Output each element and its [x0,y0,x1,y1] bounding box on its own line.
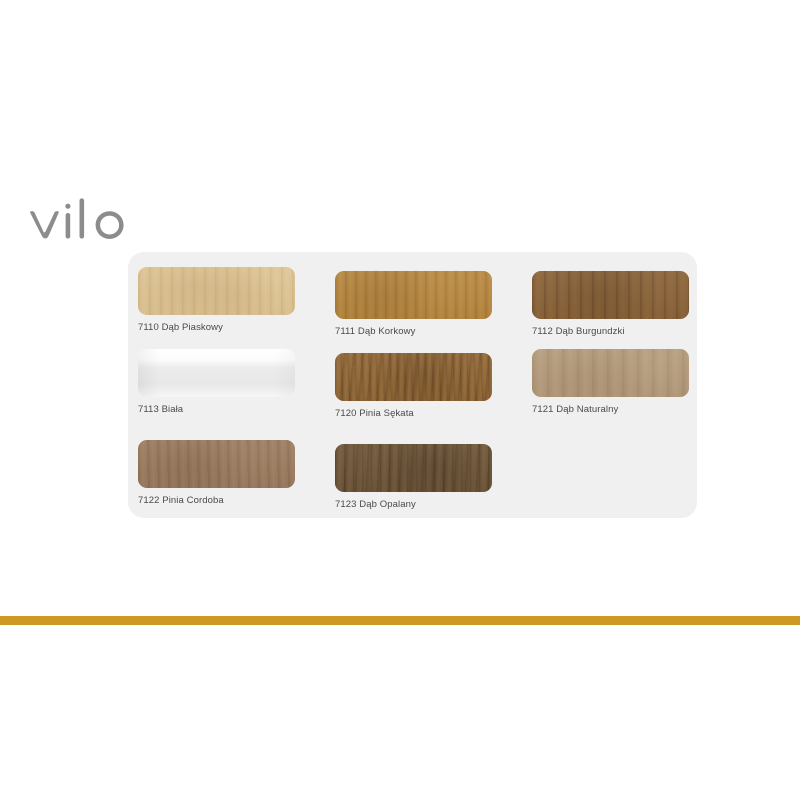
swatch-item-7120[interactable]: 7120 Pinia Sękata [335,353,510,420]
swatch-item-7123[interactable]: 7123 Dąb Opalany [335,444,510,511]
vilo-logo [26,196,156,252]
swatch-label-7121: 7121 Dąb Naturalny [532,404,707,416]
wood-sheen-layer [335,444,492,492]
wood-sheen-layer [335,353,492,401]
swatch-item-7113[interactable]: 7113 Biała [138,349,313,416]
swatch-chip-7111[interactable] [335,271,492,319]
swatch-grid: 7110 Dąb Piaskowy 7111 Dąb Korkowy 7112 … [128,252,697,518]
swatch-label-7122: 7122 Pinia Cordoba [138,495,313,507]
swatch-chip-7113[interactable] [138,349,295,397]
wood-sheen-layer [138,440,295,488]
swatch-item-7122[interactable]: 7122 Pinia Cordoba [138,440,313,507]
swatch-chip-7120[interactable] [335,353,492,401]
swatch-label-7113: 7113 Biała [138,404,313,416]
swatch-item-7110[interactable]: 7110 Dąb Piaskowy [138,267,313,334]
swatch-label-7112: 7112 Dąb Burgundzki [532,326,707,338]
colour-swatch-panel: 7110 Dąb Piaskowy 7111 Dąb Korkowy 7112 … [128,252,697,518]
swatch-label-7111: 7111 Dąb Korkowy [335,326,510,338]
swatch-label-7110: 7110 Dąb Piaskowy [138,322,313,334]
wood-sheen-layer [532,349,689,397]
swatch-chip-7123[interactable] [335,444,492,492]
wood-sheen-layer [138,267,295,315]
accent-divider-bar [0,616,800,625]
swatch-item-7121[interactable]: 7121 Dąb Naturalny [532,349,707,416]
wood-sheen-layer [532,271,689,319]
swatch-chip-7122[interactable] [138,440,295,488]
surface-sheen-layer [138,349,295,397]
swatch-label-7120: 7120 Pinia Sękata [335,408,510,420]
wood-sheen-layer [335,271,492,319]
swatch-chip-7110[interactable] [138,267,295,315]
swatch-label-7123: 7123 Dąb Opalany [335,499,510,511]
swatch-item-7112[interactable]: 7112 Dąb Burgundzki [532,271,707,338]
swatch-chip-7112[interactable] [532,271,689,319]
vilo-wordmark-icon [30,198,124,239]
swatch-item-7111[interactable]: 7111 Dąb Korkowy [335,271,510,338]
swatch-chip-7121[interactable] [532,349,689,397]
